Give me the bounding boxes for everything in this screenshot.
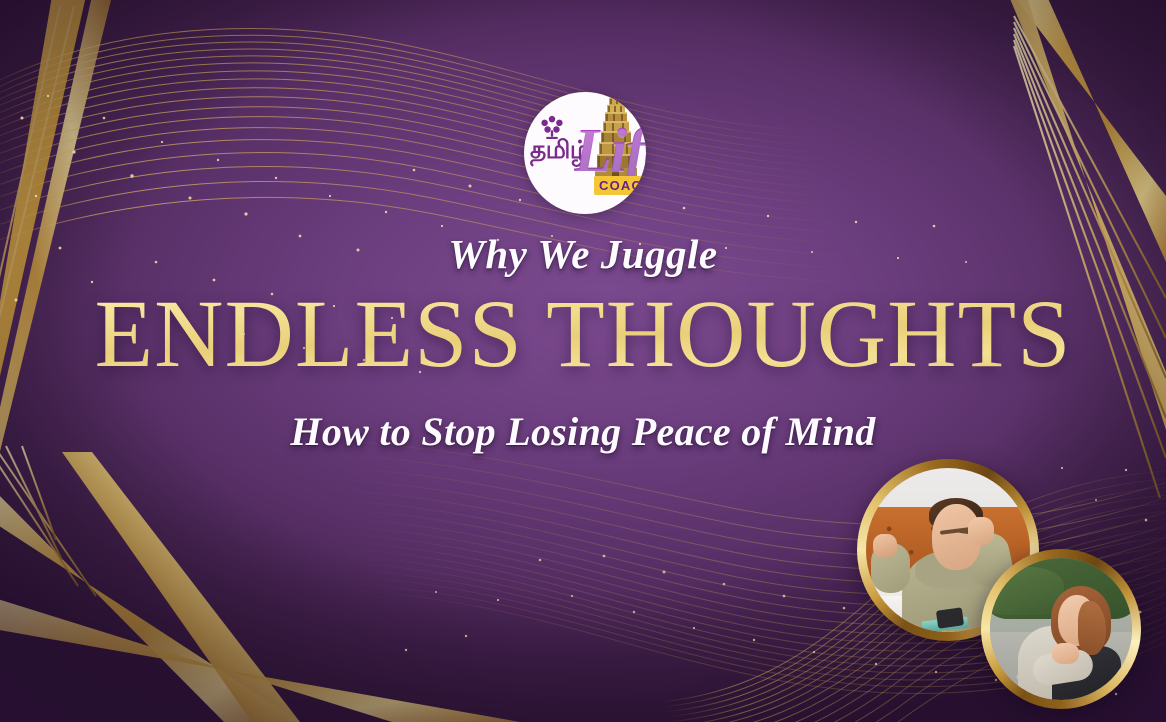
photo-pensive-young-woman-image xyxy=(990,558,1132,700)
brand-logo[interactable]: தமிழ் xyxy=(524,92,646,214)
logo-life-word: Life xyxy=(574,120,646,182)
thumbnail-canvas: தமிழ் xyxy=(0,0,1166,722)
title-eyebrow: Why We Juggle xyxy=(0,230,1166,278)
title-headline: ENDLESS THOUGHTS xyxy=(0,284,1166,384)
title-subhead: How to Stop Losing Peace of Mind xyxy=(0,408,1166,455)
decor-bottom-left-sweep xyxy=(0,596,520,722)
decor-bottom-left-bands xyxy=(0,440,620,722)
logo-coach-badge: COACH xyxy=(594,176,646,195)
photo-pensive-young-woman xyxy=(981,549,1141,709)
